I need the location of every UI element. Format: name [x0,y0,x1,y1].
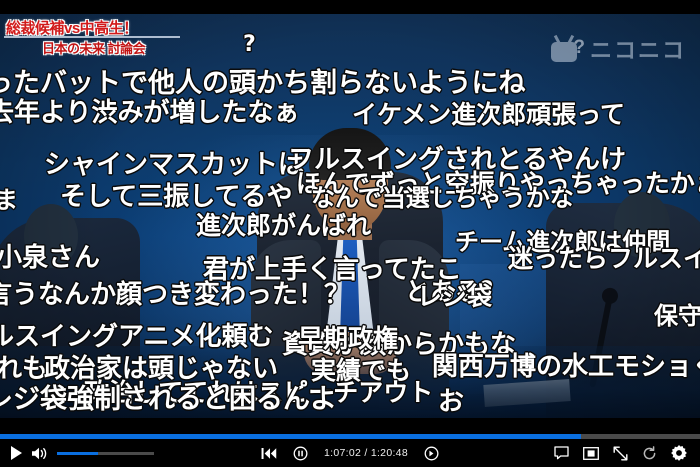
title-card-line1: 総裁候補vs中高生！ [6,17,138,38]
niconico-logo-text: ニコニコ [590,41,686,63]
danmaku-comment: なんで当選しちゃうかな [311,186,574,210]
danmaku-comment: お [438,389,464,415]
danmaku-comment: そして三振してるや [60,184,292,210]
danmaku-comment: 去年より渋みが増したなぁ [0,100,299,126]
forward-10-button[interactable] [424,446,439,461]
play-icon [11,446,22,460]
danmaku-comment: 言うなんか顔つき変わった！？ [0,282,350,308]
danmaku-comment: ったバットで他人の頭かち割らないようにね [0,70,525,97]
pip-icon [583,447,599,460]
danmaku-comment: 保守 [654,304,700,328]
volume-button[interactable] [31,446,48,461]
comment-toggle-button[interactable] [554,446,569,460]
video-stage[interactable]: 総裁候補vs中高生！ 日本の未来 討論会 ? ニコニコ ?ったバットで他人の頭か… [0,14,700,418]
volume-slider[interactable] [57,452,154,455]
video-player[interactable]: 総裁候補vs中高生！ 日本の未来 討論会 ? ニコニコ ?ったバットで他人の頭か… [0,0,700,467]
danmaku-comment: ? [243,34,256,56]
settings-button[interactable] [671,445,687,461]
volume-slider-fill [57,452,98,455]
skip-back-button[interactable] [261,447,277,460]
gear-icon [671,445,687,461]
tv-icon [551,42,577,62]
volume-icon [31,446,48,461]
danmaku-comment: 早期政権 [298,326,398,351]
title-card-line2: 日本の未来 討論会 [42,38,145,57]
danmaku-comment: シャインマスカットは [44,152,304,178]
danmaku-comment: ま [0,188,18,212]
fullscreen-icon [613,446,628,461]
danmaku-comment: れも [0,356,48,382]
danmaku-comment: レジ袋 [417,284,492,309]
play-button[interactable] [11,446,22,460]
time-display: 1:07:02 / 1:20:48 [324,447,408,459]
danmaku-comment: 進次郎がんばれ [196,213,371,238]
niconico-logo: ? ニコニコ [551,41,686,63]
danmaku-comment: 関西万博の水工モショく [432,354,700,380]
danmaku-comment: レジ袋強制されると困るんよ [0,386,337,413]
danmaku-comment: 小泉さん [0,245,100,271]
loop-icon [642,446,657,461]
player-controls[interactable]: 1:07:02 / 1:20:48 [0,439,700,467]
forward-icon [424,446,439,461]
danmaku-comment: ルスイングアニメ化頼む [0,324,273,350]
skip-back-icon [261,447,277,460]
picture-in-picture-button[interactable] [583,447,599,460]
comment-icon [554,446,569,460]
danmaku-comment: 迷ったらフルスイ [508,246,700,271]
rewind-10-button[interactable] [293,446,308,461]
fullscreen-button[interactable] [613,446,628,461]
broadcast-title-card: 総裁候補vs中高生！ 日本の未来 討論会 [0,14,206,72]
repeat-button[interactable] [642,446,657,461]
danmaku-comment: イケメン進次郎頑張って [352,102,625,127]
rewind-icon [293,446,308,461]
